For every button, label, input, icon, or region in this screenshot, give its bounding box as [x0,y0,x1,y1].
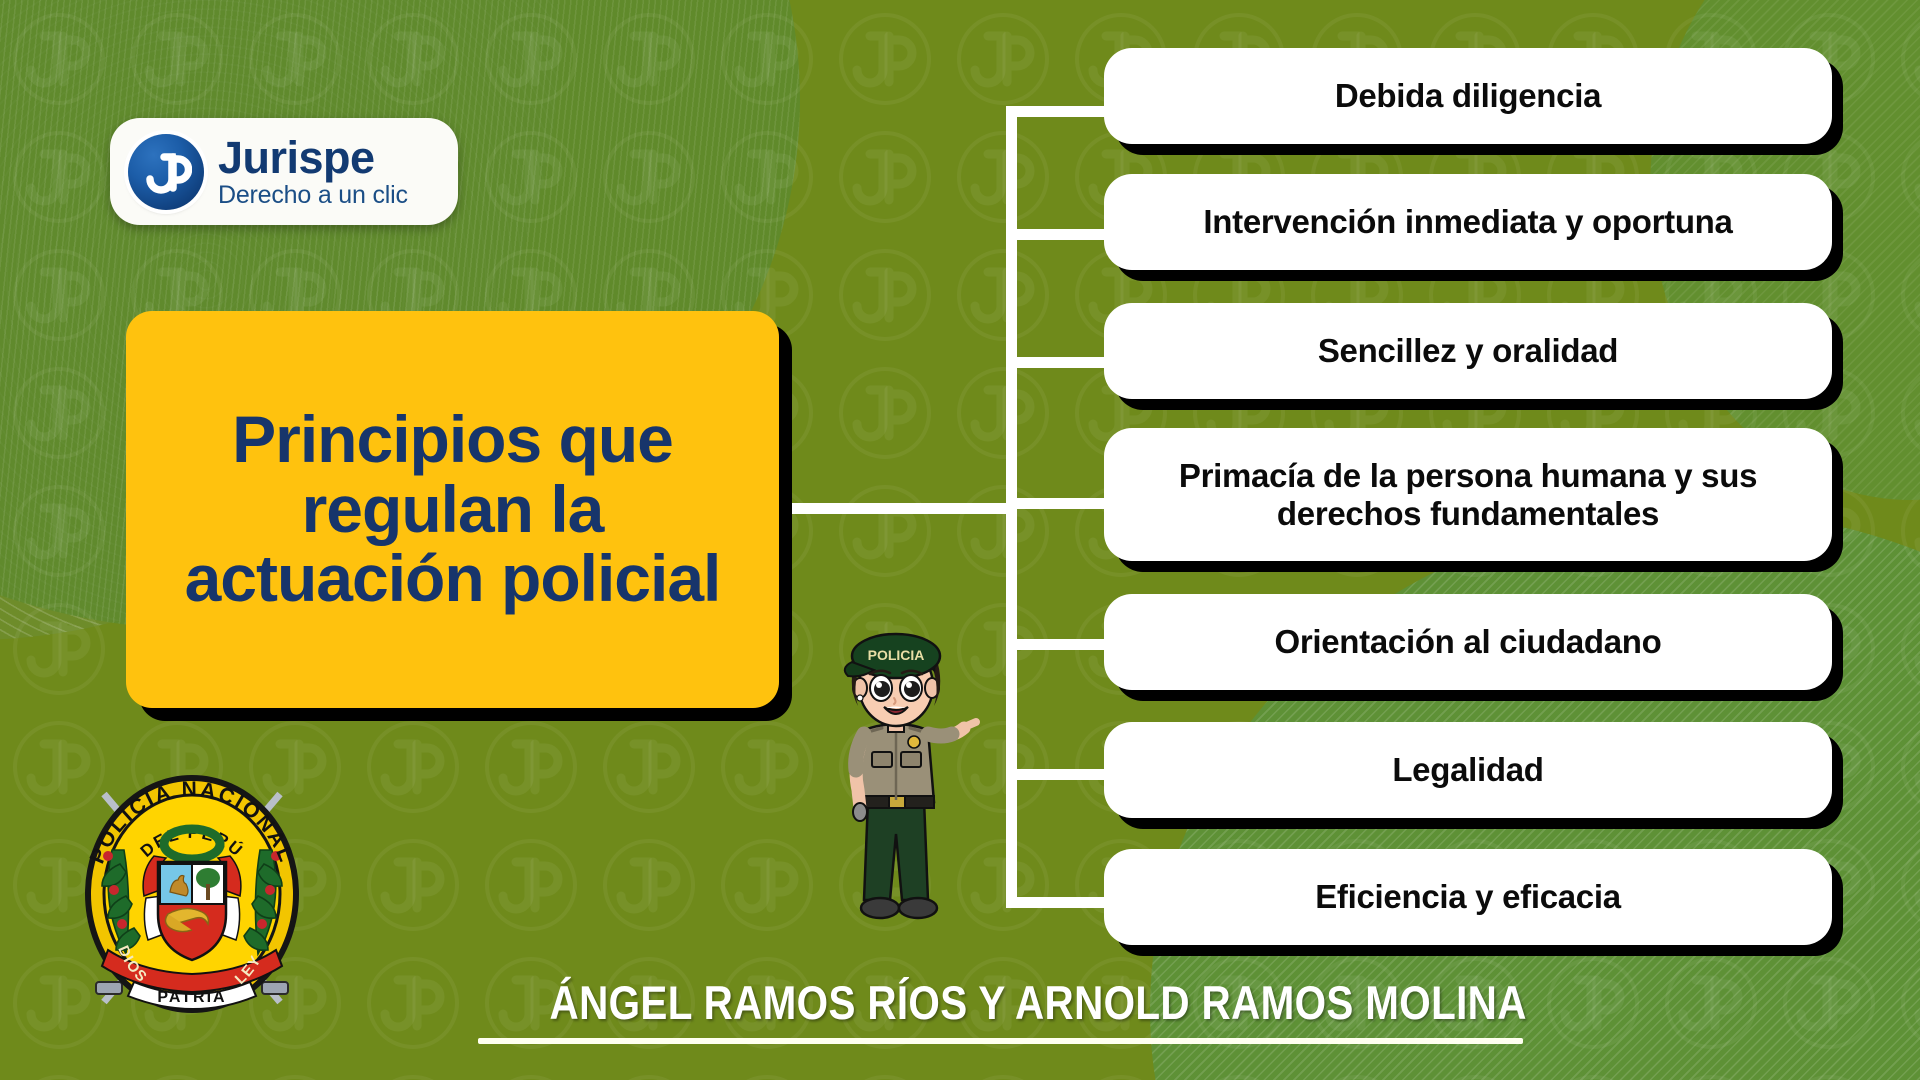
principle-box-1[interactable]: Debida diligencia [1104,48,1832,144]
police-officer-character: POLICIA [806,612,986,944]
author-credit-text: ÁNGEL RAMOS RÍOS Y ARNOLD RAMOS MOLINA [550,975,1527,1030]
principle-box-4[interactable]: Primacía de la persona humana y sus dere… [1104,428,1832,561]
principle-box-7[interactable]: Eficiencia y eficacia [1104,849,1832,945]
connector-branch-4 [1006,498,1114,509]
jp-monogram-circle-icon [128,134,204,210]
jurispe-logo-badge[interactable]: Jurispe Derecho a un clic [110,118,458,225]
author-credit-underline [478,1038,1523,1044]
emblem-ribbon-center-text: PATRIA [157,989,226,1006]
main-title-card: Principios que regulan la actuación poli… [126,311,779,708]
principle-label: Intervención inmediata y oportuna [1203,203,1732,241]
principle-label: Debida diligencia [1335,77,1601,115]
principle-box-2[interactable]: Intervención inmediata y oportuna [1104,174,1832,270]
connector-stem-to-title [787,503,1017,514]
principle-label: Legalidad [1392,751,1543,789]
logo-name: Jurispe [218,135,408,180]
connector-branch-3 [1006,357,1114,368]
principle-box-3[interactable]: Sencillez y oralidad [1104,303,1832,399]
principle-label: Primacía de la persona humana y sus dere… [1130,457,1806,532]
logo-tagline: Derecho a un clic [218,183,408,208]
connector-branch-6 [1006,769,1114,780]
officer-cap-text: POLICIA [868,647,925,663]
connector-branch-1 [1006,106,1114,117]
principle-box-5[interactable]: Orientación al ciudadano [1104,594,1832,690]
author-credit: ÁNGEL RAMOS RÍOS Y ARNOLD RAMOS MOLINA [470,975,1530,1044]
peru-national-police-emblem: POLICIA NACIONAL DEL PERÚ [68,764,316,1024]
infographic-slide: Jurispe Derecho a un clic Principios que… [0,0,1920,1080]
connector-branch-2 [1006,229,1114,240]
page-title: Principios que regulan la actuación poli… [152,405,753,615]
principle-box-6[interactable]: Legalidad [1104,722,1832,818]
connector-branch-7 [1006,897,1114,908]
connector-branch-5 [1006,639,1114,650]
principle-label: Orientación al ciudadano [1274,623,1661,661]
principle-label: Sencillez y oralidad [1318,332,1618,370]
principle-label: Eficiencia y eficacia [1315,878,1621,916]
